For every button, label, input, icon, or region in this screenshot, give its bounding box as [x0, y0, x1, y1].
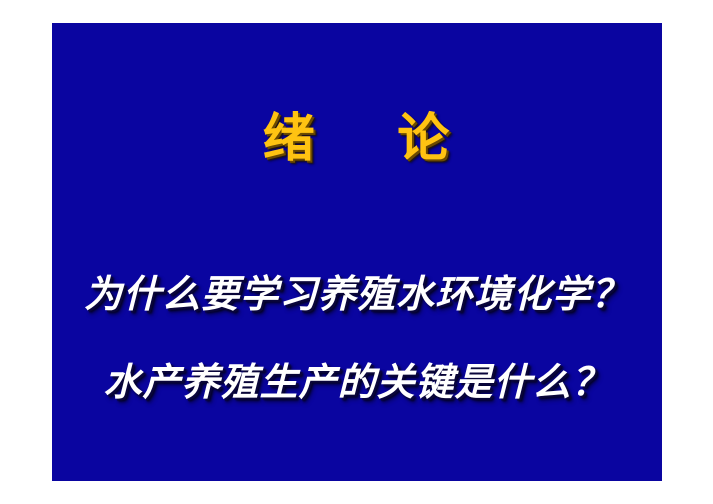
- question-line-2: 水产养殖生产的关键是什么？: [52, 351, 662, 406]
- slide-title: 绪 论: [52, 109, 662, 169]
- question-line-1: 为什么要学习养殖水环境化学？: [52, 263, 662, 318]
- presentation-canvas: 绪 论 为什么要学习养殖水环境化学？ 水产养殖生产的关键是什么？: [0, 0, 713, 504]
- slide-body: 绪 论 为什么要学习养殖水环境化学？ 水产养殖生产的关键是什么？: [52, 23, 662, 481]
